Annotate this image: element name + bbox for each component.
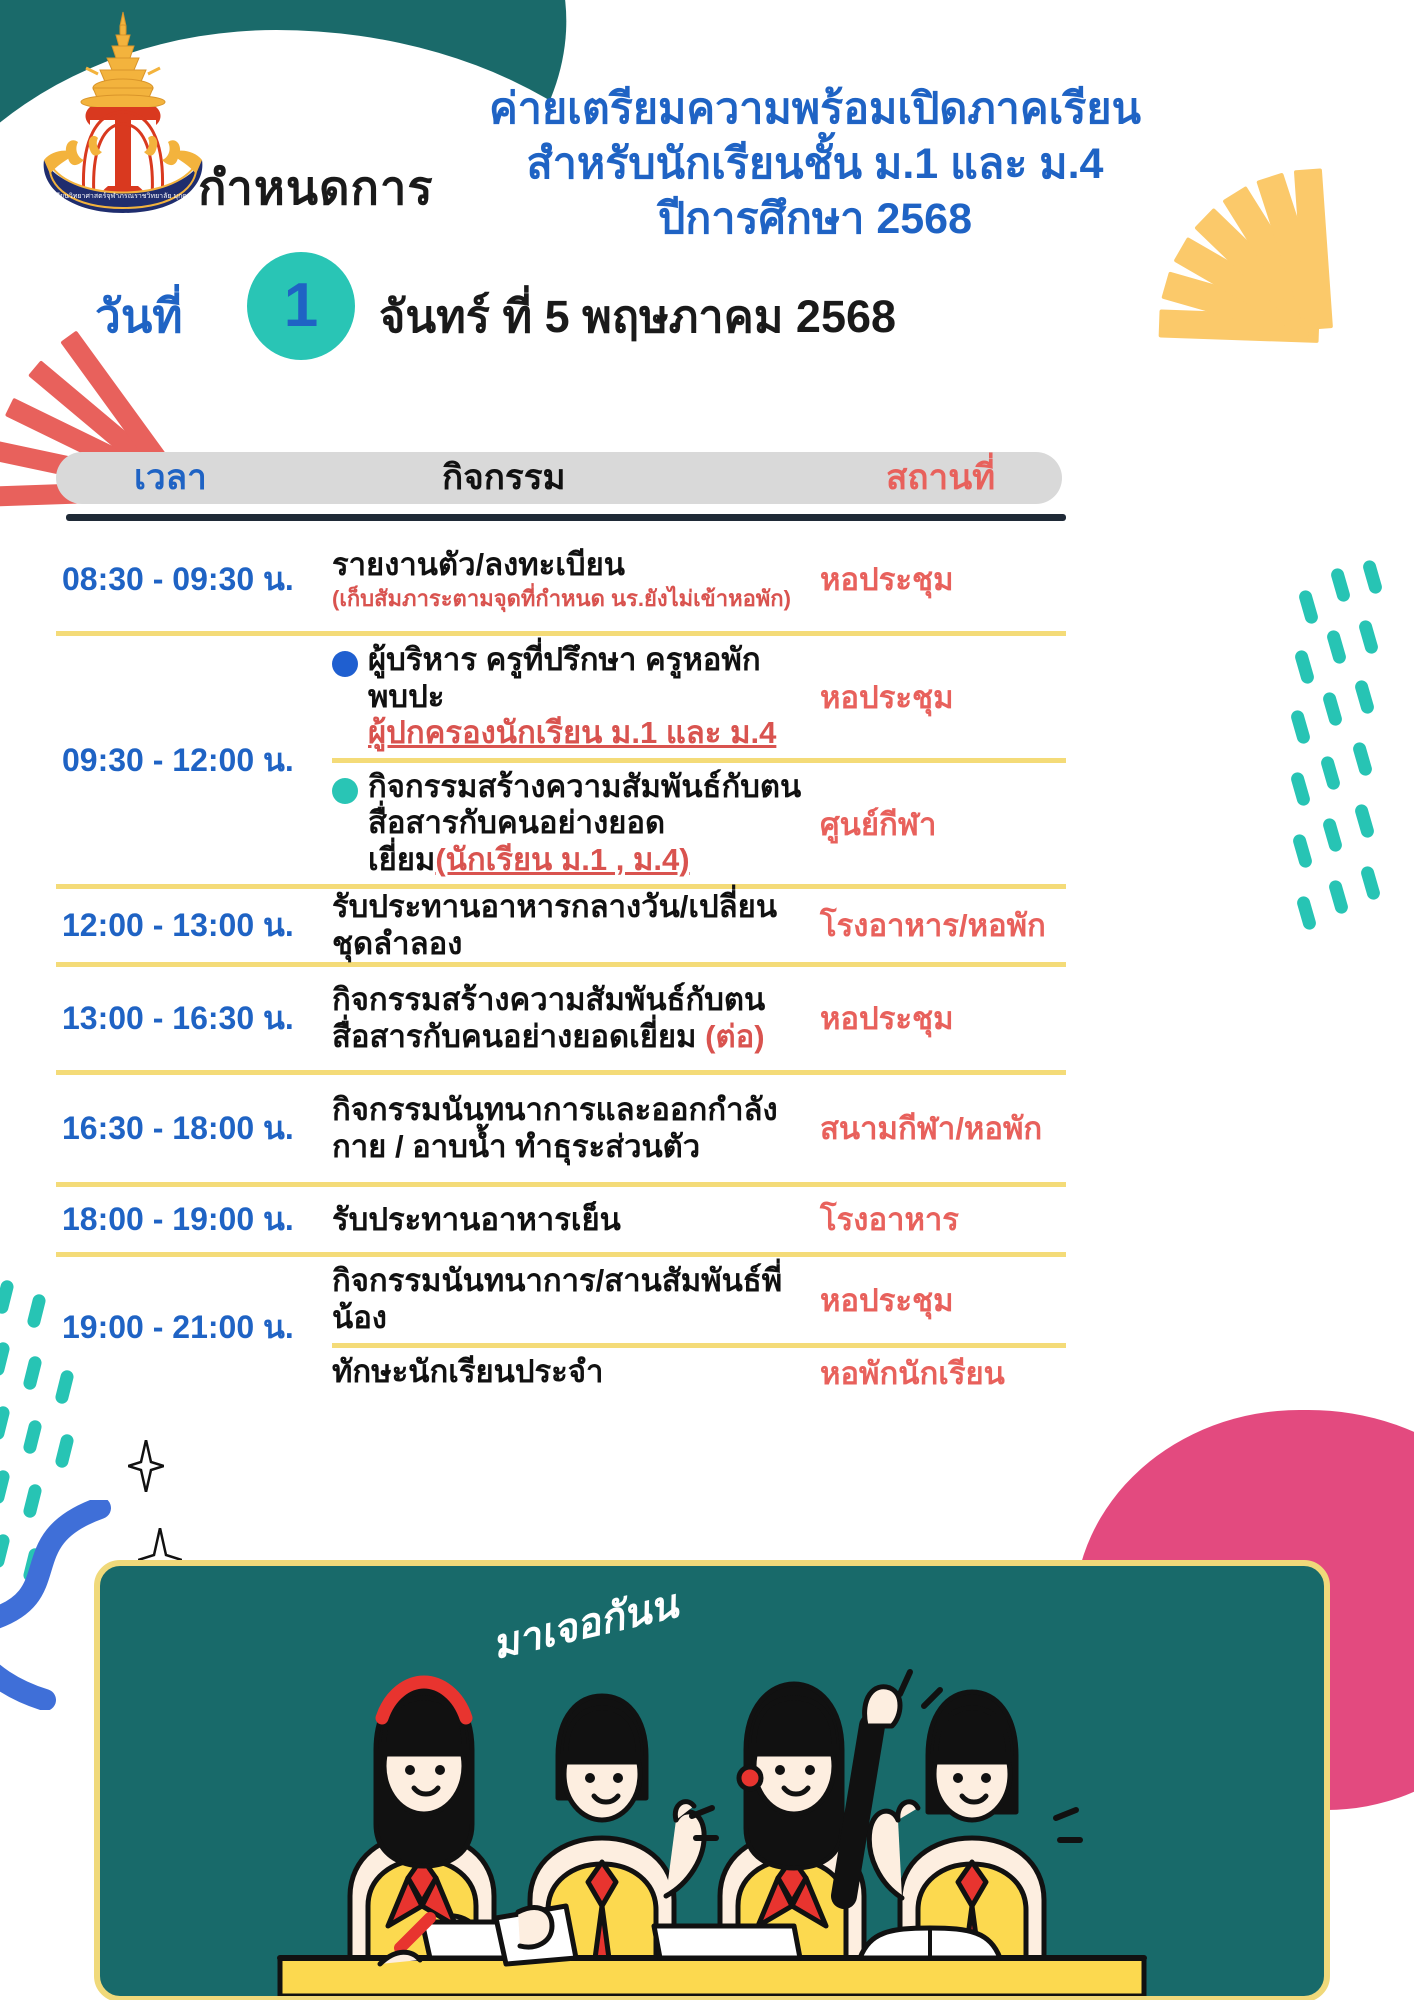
row-location: หอประชุม [816, 561, 1066, 598]
table-top-rule [66, 514, 1066, 521]
schedule-table-body: 08:30 - 09:30 น. รายงานตัว/ลงทะเบียน (เก… [56, 528, 1066, 1398]
poster-root: โรงเรียนวิทยาศาสตร์จุฬาภรณราชวิทยาลัย มุ… [0, 0, 1414, 2000]
row-location: โรงอาหาร/หอพัก [816, 907, 1066, 944]
row-activity: รายงานตัว/ลงทะเบียน (เก็บสัมภาระตามจุดที… [332, 547, 816, 612]
row-subitem: ผู้บริหาร ครูที่ปรึกษา ครูหอพัก พบปะ ผู้… [332, 636, 1066, 763]
day-label: วันที่ [95, 280, 183, 353]
event-title: ค่ายเตรียมความพร้อมเปิดภาคเรียน สำหรับนั… [400, 82, 1230, 247]
subitem-main-text: ผู้บริหาร ครูที่ปรึกษา ครูหอพัก พบปะ [368, 642, 761, 714]
bullet-blue-icon [332, 651, 358, 677]
column-header-location: สถานที่ [886, 456, 995, 500]
row-subitem-activity: กิจกรรมนันทนาการ/สานสัมพันธ์พี่น้อง [332, 1257, 816, 1342]
row-subitem-text: กิจกรรมสร้างความสัมพันธ์กับตน สื่อสารกับ… [368, 769, 810, 879]
row-location: สนามกีฬา/หอพัก [816, 1110, 1066, 1147]
row-time: 19:00 - 21:00 น. [56, 1302, 332, 1353]
event-title-line-1: ค่ายเตรียมความพร้อมเปิดภาคเรียน [400, 82, 1230, 137]
row-time: 08:30 - 09:30 น. [56, 554, 332, 605]
row-subitem-activity: กิจกรรมสร้างความสัมพันธ์กับตน สื่อสารกับ… [332, 763, 816, 885]
table-row: 16:30 - 18:00 น. กิจกรรมนันทนาการและออกก… [56, 1075, 1066, 1187]
table-row: 13:00 - 16:30 น. กิจกรรมสร้างความสัมพันธ… [56, 967, 1066, 1075]
students-illustration: มาเจอกันน [94, 1560, 1330, 2000]
row-subitem-text: กิจกรรมนันทนาการ/สานสัมพันธ์พี่น้อง [332, 1263, 810, 1336]
row-subitem-location: หอพักนักเรียน [816, 1348, 1066, 1398]
table-row: 18:00 - 19:00 น. รับประทานอาหารเย็น โรงอ… [56, 1187, 1066, 1257]
schedule-table-header: เวลา กิจกรรม สถานที่ [56, 452, 1062, 504]
row-subitem-text: ผู้บริหาร ครูที่ปรึกษา ครูหอพัก พบปะ ผู้… [368, 642, 810, 752]
row-activity: รับประทานอาหารกลางวัน/เปลี่ยนชุดลำลอง [332, 889, 816, 962]
row-activity: กิจกรรมนันทนาการและออกกำลังกาย / อาบน้ำ … [332, 1092, 816, 1165]
row-subitems: ผู้บริหาร ครูที่ปรึกษา ครูหอพัก พบปะ ผู้… [332, 636, 1066, 884]
table-row: 12:00 - 13:00 น. รับประทานอาหารกลางวัน/เ… [56, 889, 1066, 967]
row-activity: กิจกรรมสร้างความสัมพันธ์กับตน สื่อสารกับ… [332, 982, 816, 1055]
row-activity-text: รายงานตัว/ลงทะเบียน [332, 547, 625, 582]
row-subitem: ทักษะนักเรียนประจำ หอพักนักเรียน [332, 1348, 1066, 1398]
row-subitem-text: ทักษะนักเรียนประจำ [332, 1354, 603, 1391]
day-number-badge: 1 [247, 252, 355, 360]
row-subitem-location: หอประชุม [816, 672, 1066, 722]
event-title-line-3: ปีการศึกษา 2568 [400, 192, 1230, 247]
row-subitem-location: หอประชุม [816, 1275, 1066, 1325]
row-time: 13:00 - 16:30 น. [56, 993, 332, 1044]
row-location: หอประชุม [816, 1000, 1066, 1037]
teal-dot-field-right [1294, 560, 1414, 980]
row-activity-note: (เก็บสัมภาระตามจุดที่กำหนด นร.ยังไม่เข้า… [332, 586, 810, 612]
table-header-bar: เวลา กิจกรรม สถานที่ [56, 452, 1062, 504]
row-time: 16:30 - 18:00 น. [56, 1103, 332, 1154]
table-row: 19:00 - 21:00 น. กิจกรรมนันทนาการ/สานสัม… [56, 1257, 1066, 1397]
day-header: วันที่ 1 จันทร์ ที่ 5 พฤษภาคม 2568 [95, 252, 1095, 362]
page-title: กำหนดการ [198, 150, 434, 225]
sparkle-icon-small [128, 1440, 164, 1492]
row-subitem-activity: ผู้บริหาร ครูที่ปรึกษา ครูหอพัก พบปะ ผู้… [332, 636, 816, 758]
event-title-line-2: สำหรับนักเรียนชั้น ม.1 และ ม.4 [400, 137, 1230, 192]
subitem-underlined-text: (นักเรียน ม.1 , ม.4) [435, 842, 689, 877]
row-activity-text: กิจกรรมสร้างความสัมพันธ์กับตน สื่อสารกับ… [332, 982, 765, 1054]
row-subitem-activity: ทักษะนักเรียนประจำ [332, 1348, 816, 1397]
row-time: 18:00 - 19:00 น. [56, 1194, 332, 1245]
row-time: 12:00 - 13:00 น. [56, 900, 332, 951]
row-time: 09:30 - 12:00 น. [56, 735, 332, 786]
row-subitem: กิจกรรมนันทนาการ/สานสัมพันธ์พี่น้อง หอปร… [332, 1257, 1066, 1347]
column-header-time: เวลา [134, 456, 207, 500]
row-subitem: กิจกรรมสร้างความสัมพันธ์กับตน สื่อสารกับ… [332, 763, 1066, 885]
row-subitems: กิจกรรมนันทนาการ/สานสัมพันธ์พี่น้อง หอปร… [332, 1257, 1066, 1397]
row-subitem-location: ศูนย์กีฬา [816, 799, 1066, 849]
school-emblem-logo: โรงเรียนวิทยาศาสตร์จุฬาภรณราชวิทยาลัย มุ… [28, 8, 218, 213]
table-row: 08:30 - 09:30 น. รายงานตัว/ลงทะเบียน (เก… [56, 528, 1066, 636]
subitem-underlined-text: ผู้ปกครองนักเรียน ม.1 และ ม.4 [368, 715, 776, 750]
day-number: 1 [284, 275, 318, 337]
table-row: 09:30 - 12:00 น. ผู้บริหาร ครูที่ปรึกษา … [56, 636, 1066, 889]
row-location: โรงอาหาร [816, 1201, 1066, 1238]
svg-text:โรงเรียนวิทยาศาสตร์จุฬาภรณราชว: โรงเรียนวิทยาศาสตร์จุฬาภรณราชวิทยาลัย มุ… [43, 191, 203, 200]
bullet-teal-icon [332, 778, 358, 804]
row-activity: รับประทานอาหารเย็น [332, 1202, 816, 1239]
day-date: จันทร์ ที่ 5 พฤษภาคม 2568 [379, 280, 896, 352]
column-header-activity: กิจกรรม [442, 456, 566, 500]
row-activity-suffix: (ต่อ) [705, 1019, 764, 1054]
